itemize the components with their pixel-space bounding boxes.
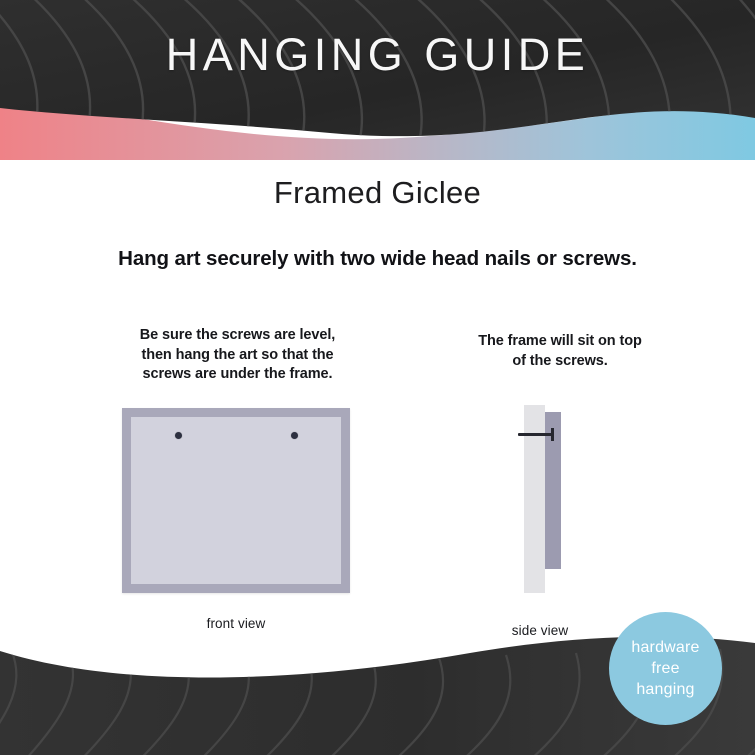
badge-line-3: hanging: [636, 679, 694, 700]
side-view-column: The frame will sit on top of the screws.: [420, 332, 700, 371]
screw-head-icon: [551, 428, 554, 441]
side-view-diagram: [505, 400, 595, 600]
front-view-caption-line-1: Be sure the screws are level,: [55, 326, 420, 346]
screw-shaft-icon: [518, 433, 553, 436]
product-title: Framed Giclee: [0, 175, 755, 211]
header-banner: HANGING GUIDE: [0, 0, 755, 160]
side-view-caption-line-2: of the screws.: [420, 352, 700, 372]
front-view-caption-line-3: screws are under the frame.: [55, 365, 420, 385]
front-view-diagram: [122, 408, 350, 593]
page-title: HANGING GUIDE: [0, 29, 755, 81]
picture-frame-outer: [122, 408, 350, 593]
lead-instruction: Hang art securely with two wide head nai…: [0, 247, 755, 271]
screw-dot-left: [175, 432, 182, 439]
picture-frame-inner-panel: [131, 417, 341, 584]
badge-line-1: hardware: [631, 637, 699, 658]
side-view-caption-line-1: The frame will sit on top: [420, 332, 700, 352]
badge-line-2: free: [651, 658, 679, 679]
hardware-free-badge: hardware free hanging: [609, 612, 722, 725]
front-view-column: Be sure the screws are level, then hang …: [55, 326, 420, 385]
hanging-guide-page: HANGING GUIDE Framed Giclee Hang art sec…: [0, 0, 755, 755]
front-view-caption-line-2: then hang the art so that the: [55, 346, 420, 366]
screw-dot-right: [291, 432, 298, 439]
front-view-caption: Be sure the screws are level, then hang …: [55, 326, 420, 385]
side-view-caption: The frame will sit on top of the screws.: [420, 332, 700, 371]
